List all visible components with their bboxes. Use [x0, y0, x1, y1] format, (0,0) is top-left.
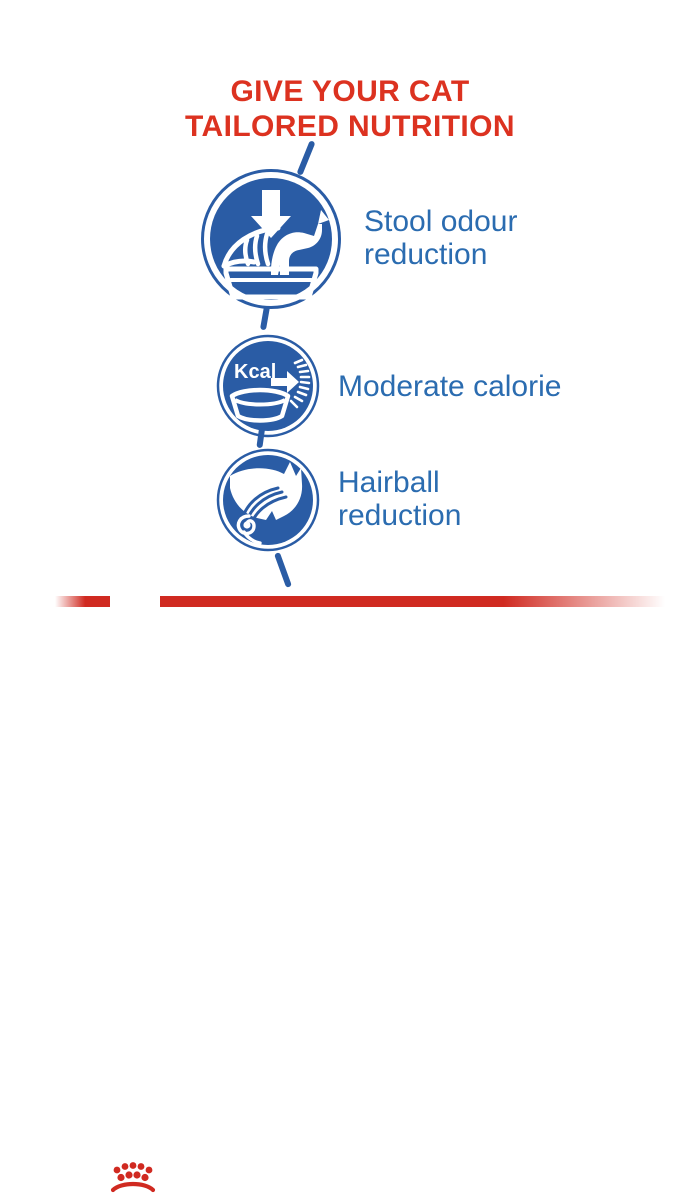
feature-row-hairball: Hairball reduction: [216, 448, 461, 552]
kcal-bowl-gauge-icon: Kcal: [216, 334, 320, 438]
poster-canvas: GIVE YOUR CAT TAILORED NUTRITION: [0, 0, 700, 700]
brand-bar: [0, 582, 700, 626]
headline-line-1: GIVE YOUR CAT: [0, 74, 700, 109]
feature-label-moderate-calorie: Moderate calorie: [338, 370, 561, 403]
kcal-icon-text: Kcal: [234, 361, 276, 383]
cat-litter-box-down-arrow-icon: [200, 168, 342, 310]
feature-label-stool-odour: Stool odour reduction: [364, 205, 517, 271]
page-title: GIVE YOUR CAT TAILORED NUTRITION: [0, 74, 700, 144]
brand-bar-right-segment: [160, 596, 665, 607]
feature-row-moderate-calorie: Kcal Moderate calorie: [216, 334, 561, 438]
brand-bar-left-segment: [55, 596, 110, 607]
feature-row-stool-odour: Stool odour reduction: [200, 168, 517, 310]
feature-label-hairball: Hairball reduction: [338, 466, 461, 532]
headline-line-2: TAILORED NUTRITION: [0, 109, 700, 144]
royal-canin-crown-logo: [106, 1160, 160, 1196]
cat-head-hairball-spiral-icon: [216, 448, 320, 552]
